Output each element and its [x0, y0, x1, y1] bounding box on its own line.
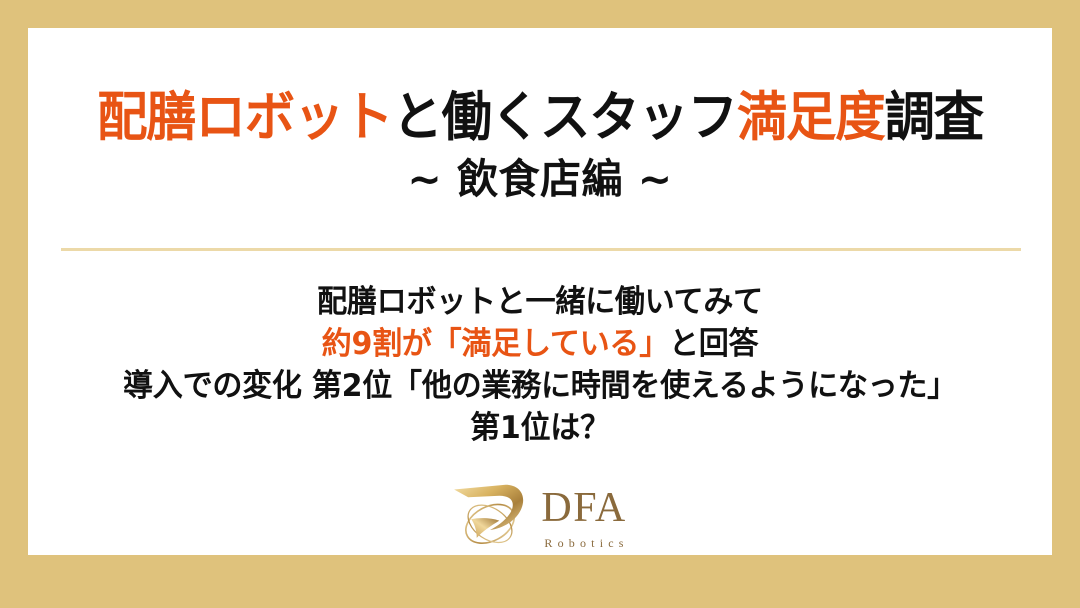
- body-line-1: 配膳ロボットと一緒に働いてみて: [43, 281, 1036, 323]
- title-segment-satisfaction: 満足度: [737, 87, 885, 148]
- slide-canvas: 配膳ロボットと働くスタッフ満足度調査 ~ 飲食店編 ~ 配膳ロボットと一緒に働い…: [0, 0, 1080, 608]
- dfa-swoosh-icon: [451, 480, 529, 552]
- body-line-2-tail: と回答: [669, 326, 758, 362]
- page-subtitle: ~ 飲食店編 ~: [28, 155, 1052, 203]
- body-line-2: 約9割が「満足している」と回答: [43, 323, 1036, 365]
- logo-tagline: Robotics: [544, 537, 628, 549]
- brand-logo: DFA Robotics: [28, 480, 1052, 552]
- page-title: 配膳ロボットと働くスタッフ満足度調査: [54, 90, 1027, 146]
- body-line-3: 導入での変化 第2位「他の業務に時間を使えるようになった」: [43, 365, 1036, 407]
- body-line-4: 第1位は？: [43, 407, 1036, 449]
- title-block: 配膳ロボットと働くスタッフ満足度調査 ~ 飲食店編 ~: [28, 90, 1052, 204]
- divider: [61, 248, 1021, 251]
- title-segment-survey: 調査: [884, 87, 982, 148]
- title-segment-staff: と働くスタッフ: [392, 87, 736, 148]
- body-block: 配膳ロボットと一緒に働いてみて 約9割が「満足している」と回答 導入での変化 第…: [28, 281, 1052, 449]
- slide-card: 配膳ロボットと働くスタッフ満足度調査 ~ 飲食店編 ~ 配膳ロボットと一緒に働い…: [28, 28, 1052, 555]
- title-segment-robot: 配膳ロボット: [97, 87, 392, 148]
- logo-text-group: DFA Robotics: [541, 483, 628, 549]
- logo-wordmark: DFA: [541, 487, 626, 529]
- body-line-2-highlight: 約9割が「満足している」: [322, 326, 669, 362]
